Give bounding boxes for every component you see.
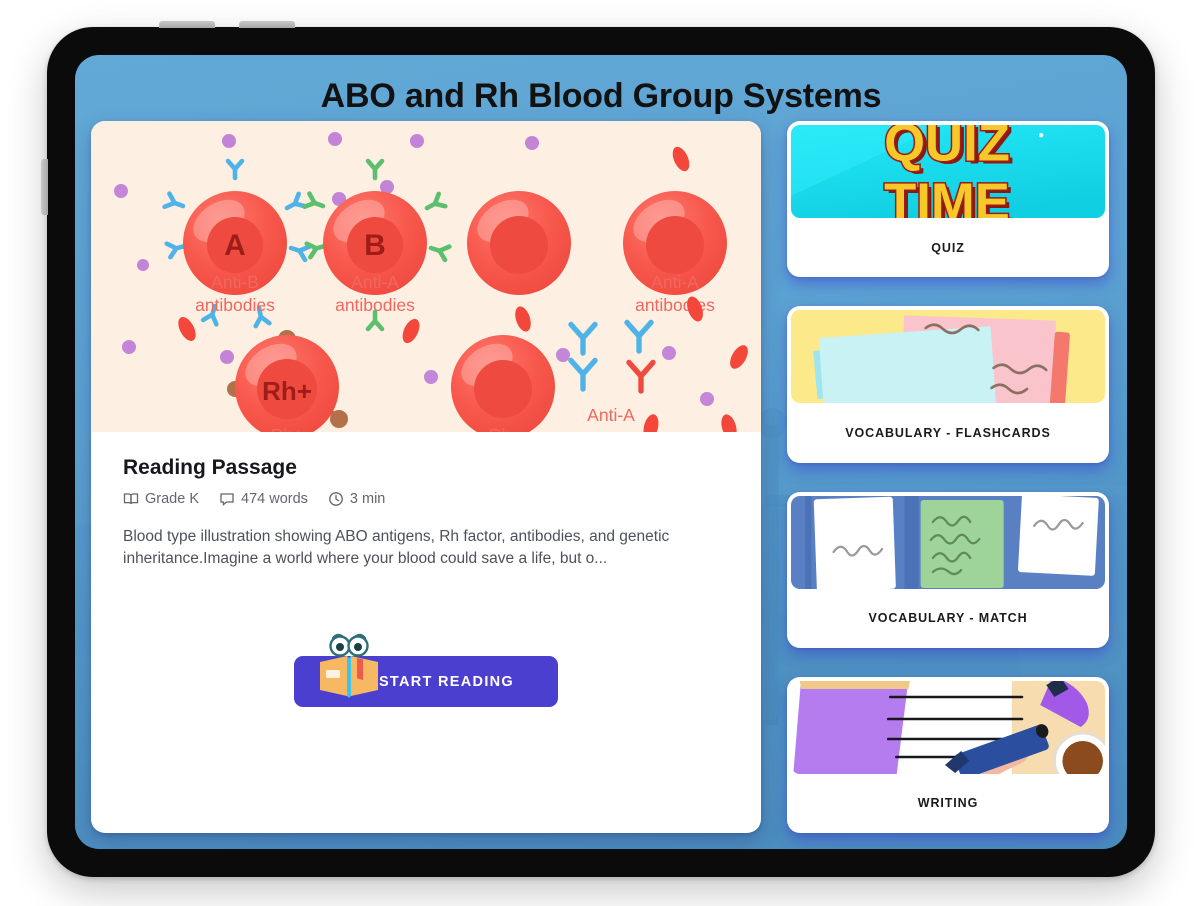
open-book-icon (123, 491, 139, 507)
svg-text:A: A (224, 229, 246, 262)
quiz-time-banner-thumbnail: QUIZ QUIZ TIME TIME (791, 125, 1105, 218)
svg-text:Anti-A: Anti-A (351, 272, 399, 292)
volume-down-button[interactable] (239, 21, 295, 28)
activity-label-vocabulary-flashcards: VOCABULARY - FLASHCARDS (787, 403, 1109, 462)
tablet-screen: ABO and Rh Blood Group Systems (75, 55, 1127, 849)
meta-grade: Grade K (123, 491, 199, 507)
activity-card-writing[interactable]: WRITING (787, 677, 1109, 833)
svg-text:Rh-: Rh- (489, 425, 517, 432)
page-title: ABO and Rh Blood Group Systems (75, 77, 1127, 116)
flashcards-stack-thumbnail (791, 310, 1105, 403)
svg-text:antibodies: antibodies (635, 295, 715, 315)
start-reading-button[interactable]: START READING (294, 656, 558, 707)
clock-icon (328, 491, 344, 507)
writing-notebook-pencil-thumbnail (791, 681, 1105, 774)
tablet-device-frame: ABO and Rh Blood Group Systems (47, 27, 1155, 877)
reading-passage-card[interactable]: A Anti-B antibodies (91, 121, 761, 833)
notecards-on-desk-thumbnail (791, 496, 1105, 589)
power-button[interactable] (41, 159, 48, 215)
svg-text:Anti-A: Anti-A (651, 272, 699, 292)
reading-heading: Reading Passage (123, 456, 729, 480)
activity-card-vocabulary-flashcards[interactable]: VOCABULARY - FLASHCARDS (787, 306, 1109, 462)
activity-card-vocabulary-match[interactable]: VOCABULARY - MATCH (787, 492, 1109, 648)
activity-label-quiz: QUIZ (787, 218, 1109, 277)
activity-card-quiz[interactable]: QUIZ QUIZ TIME TIME QUIZ (787, 121, 1109, 277)
volume-up-button[interactable] (159, 21, 215, 28)
meta-duration-label: 3 min (350, 491, 385, 507)
hero-illustration: A Anti-B antibodies (91, 121, 761, 432)
activity-sidebar: QUIZ QUIZ TIME TIME QUIZ (787, 121, 1111, 833)
blood-cell-plain (467, 191, 571, 295)
reading-meta: Grade K 474 words (123, 491, 729, 507)
svg-text:Anti-B: Anti-B (211, 272, 259, 292)
svg-text:antibodies: antibodies (195, 295, 275, 315)
svg-text:antibodies: antibodies (335, 295, 415, 315)
start-reading-area: START READING (91, 571, 761, 833)
blood-cells-diagram: A Anti-B antibodies (91, 121, 761, 432)
reading-summary: Blood type illustration showing ABO anti… (123, 526, 729, 571)
activity-label-writing: WRITING (787, 774, 1109, 833)
meta-words-label: 474 words (241, 491, 308, 507)
svg-text:Rh+: Rh+ (262, 376, 312, 406)
svg-text:QUIZ: QUIZ (884, 125, 1010, 172)
message-bubble-icon (219, 491, 235, 507)
meta-duration: 3 min (328, 491, 385, 507)
activity-label-vocabulary-match: VOCABULARY - MATCH (787, 589, 1109, 648)
main-content: A Anti-B antibodies (91, 121, 1111, 833)
svg-text:Rh+: Rh+ (271, 425, 304, 432)
svg-text:B: B (364, 229, 386, 262)
open-book-mascot-icon (316, 632, 382, 702)
meta-grade-label: Grade K (145, 491, 199, 507)
reading-body: Reading Passage Grade K (91, 432, 761, 571)
meta-words: 474 words (219, 491, 308, 507)
svg-text:TIME: TIME (884, 173, 1010, 218)
svg-text:Anti-A: Anti-A (587, 405, 635, 425)
start-reading-label: START READING (379, 674, 514, 690)
